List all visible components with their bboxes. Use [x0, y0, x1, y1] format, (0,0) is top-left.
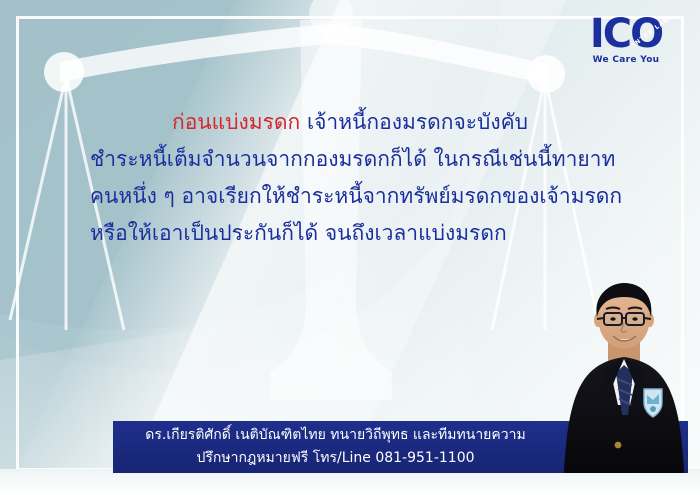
quote-block: ก่อนแบ่งมรดก เจ้าหนี้กองมรดกจะบังคับ ชำร…: [40, 104, 660, 252]
quote-line-4: หรือให้เอาเป็นประกันก็ได้ จนถึงเวลาแบ่งม…: [40, 215, 660, 252]
poster-canvas: ICO INTER LAW We Care You ก่อนแบ่งมรดก เ…: [0, 0, 700, 495]
lawyer-portrait: [560, 273, 688, 473]
quote-highlight: ก่อนแบ่งมรดก: [172, 110, 300, 134]
quote-line-1: ก่อนแบ่งมรดก เจ้าหนี้กองมรดกจะบังคับ: [40, 104, 660, 141]
brand-logo: ICO INTER LAW We Care You: [574, 14, 678, 76]
quote-line-2: ชำระหนี้เต็มจำนวนจากกองมรดกก็ได้ ในกรณีเ…: [40, 141, 660, 178]
quote-line-1-rest: เจ้าหนี้กองมรดกจะบังคับ: [300, 110, 528, 134]
logo-mark: ICO INTER LAW: [574, 14, 678, 54]
quote-line-3: คนหนึ่ง ๆ อาจเรียกให้ชำระหนี้จากทรัพย์มร…: [40, 178, 660, 215]
